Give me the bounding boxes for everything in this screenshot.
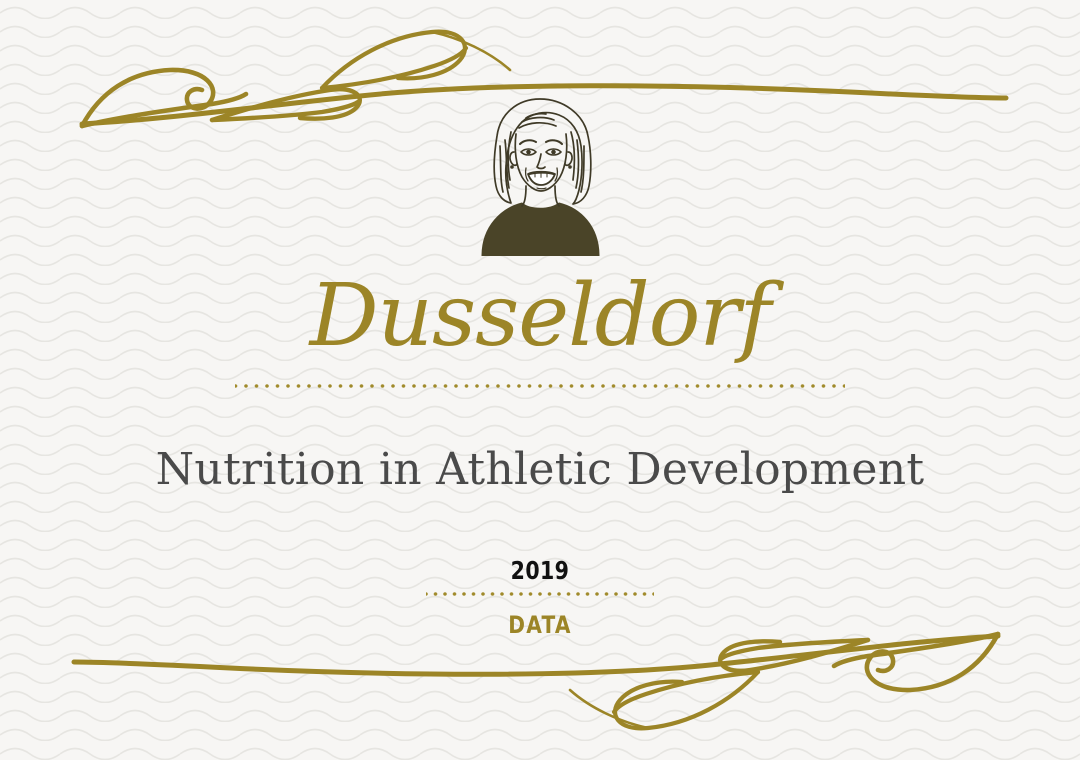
woman-portrait-illustration [460,88,620,256]
avatar [460,88,620,256]
year-label: 2019 [97,494,983,583]
data-label: DATA [86,596,993,637]
subtitle: Nutrition in Athletic Development [0,388,1080,494]
content-stack: Dusseldorf Nutrition in Athletic Develop… [0,262,1080,637]
certificate-slide: Dusseldorf Nutrition in Athletic Develop… [0,0,1080,760]
page-title: Dusseldorf [0,262,1080,370]
